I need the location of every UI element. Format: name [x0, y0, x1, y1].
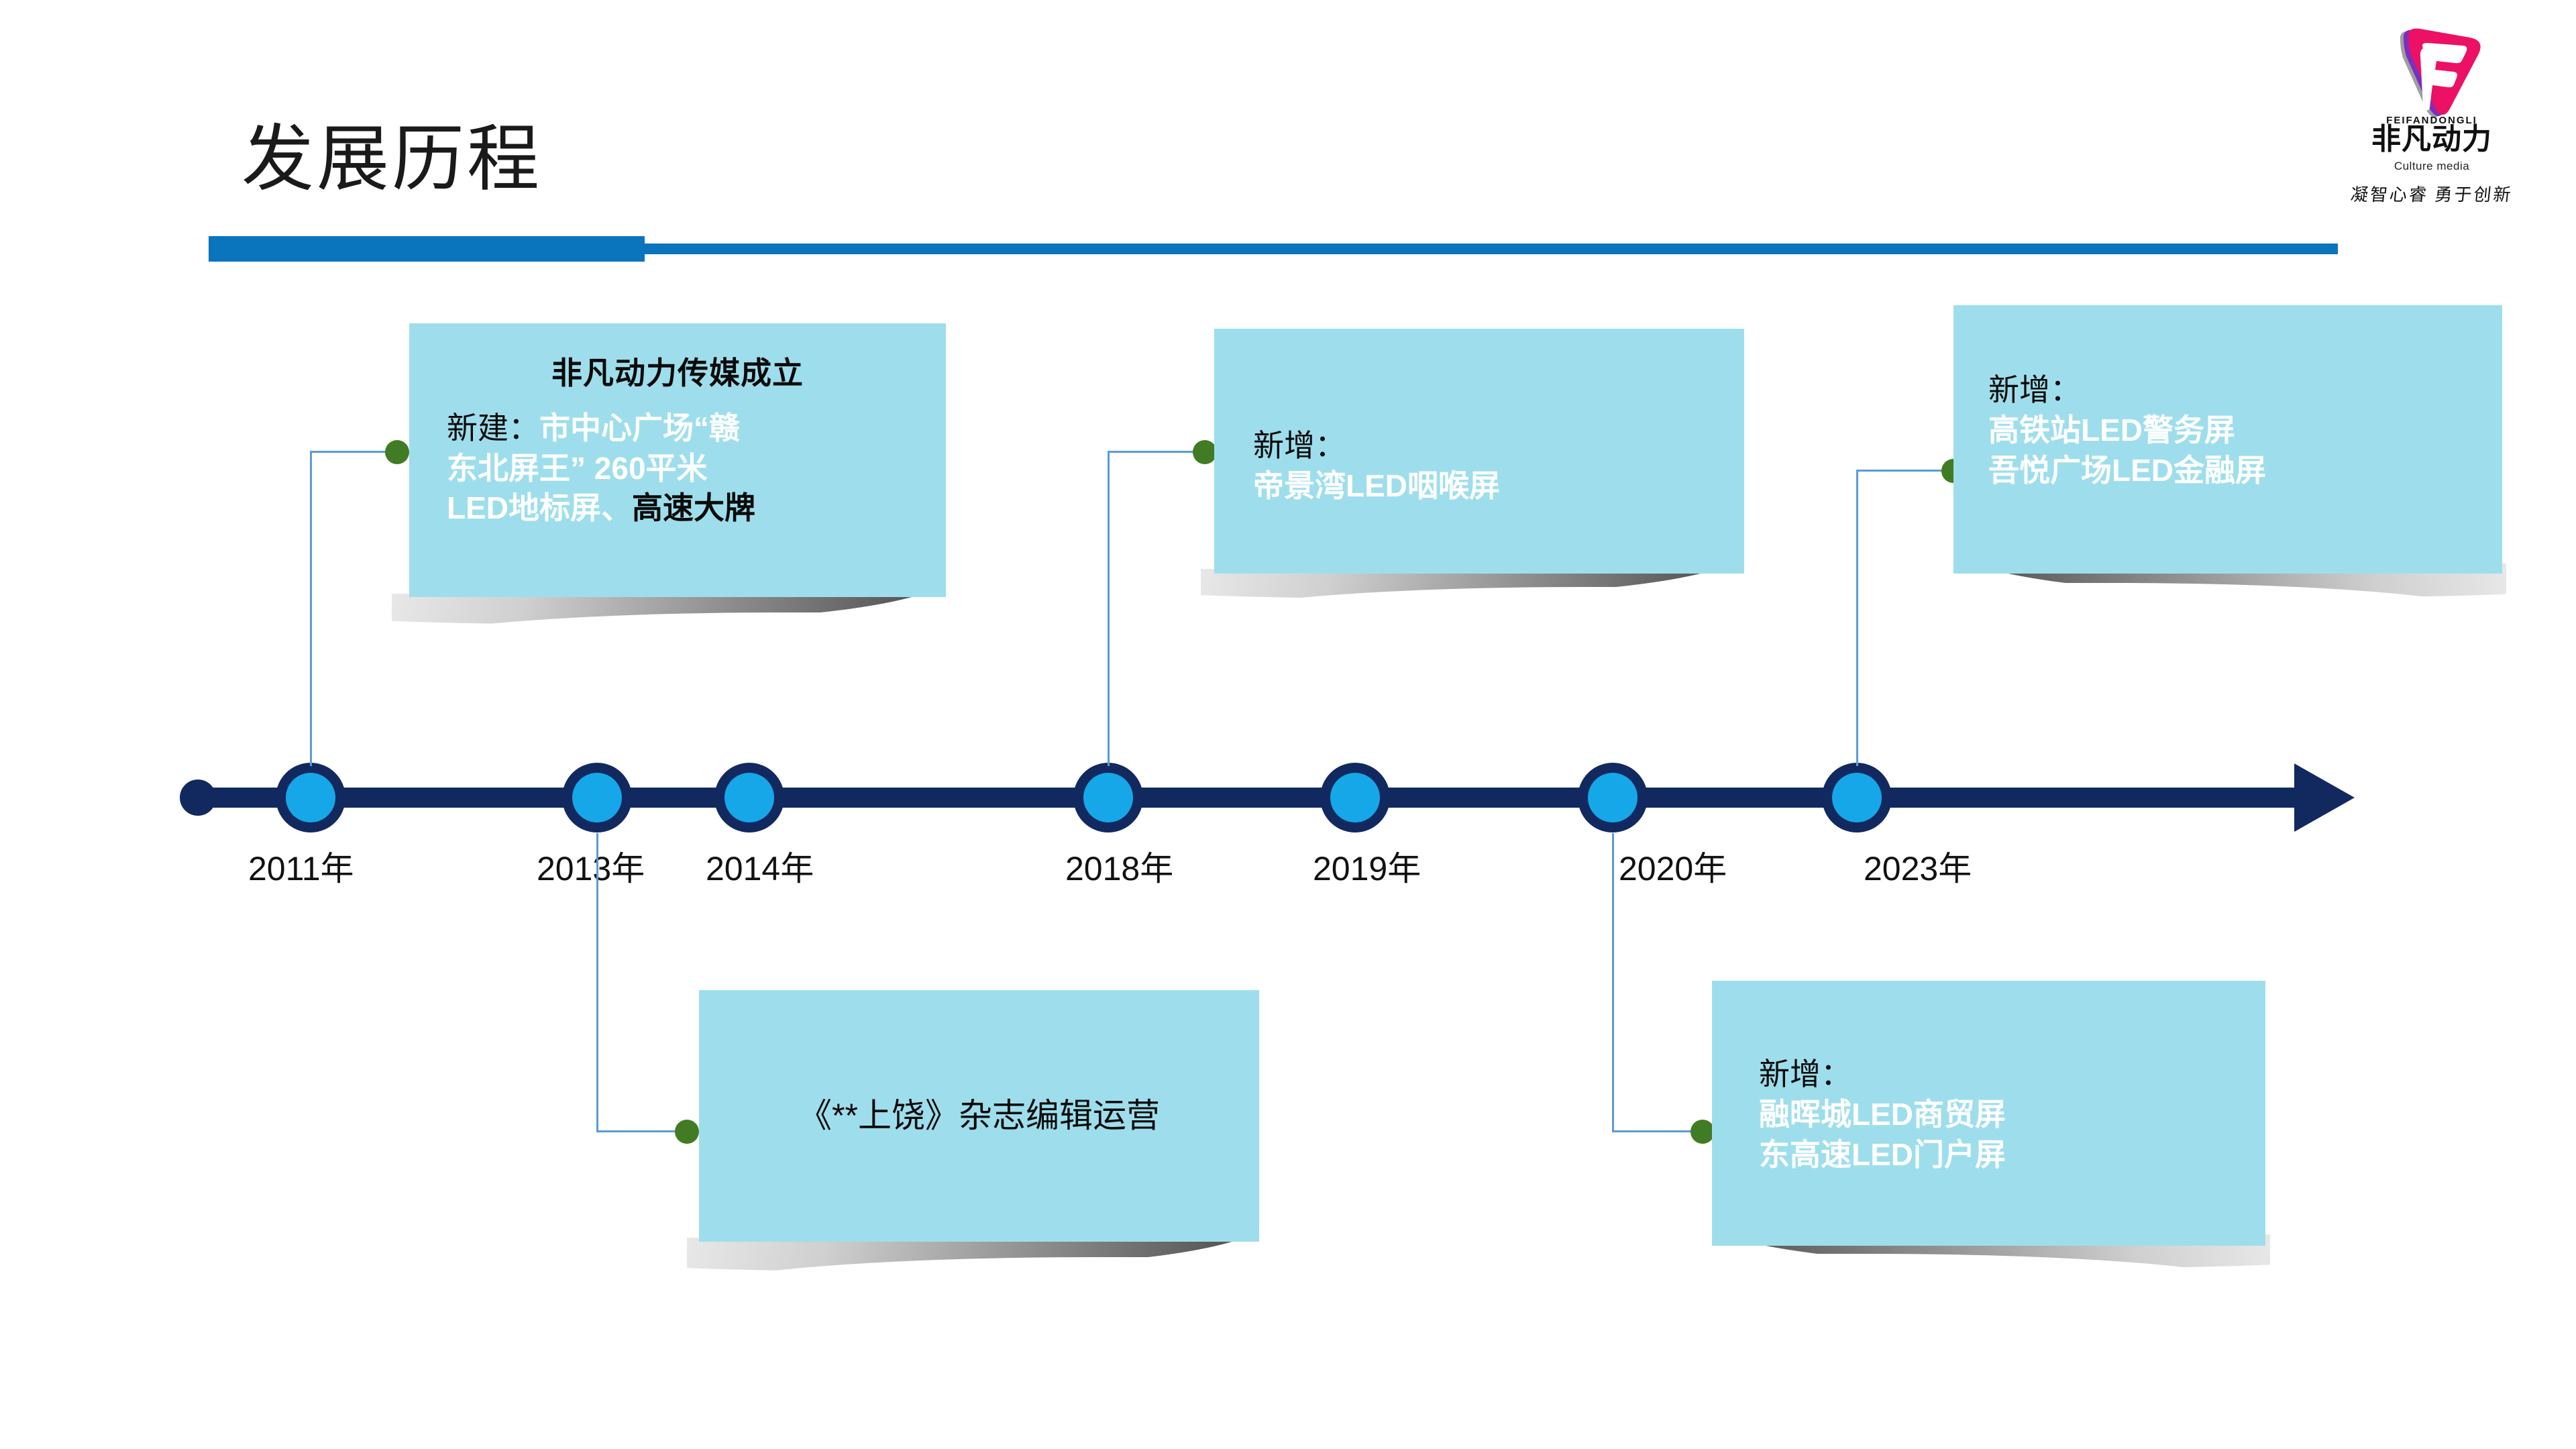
f-triangle-icon [2383, 25, 2483, 119]
timeline-node-2014[interactable] [714, 763, 784, 833]
card-body-2023: 新增： 高铁站LED警务屏 吾悦广场LED金融屏 [1953, 305, 2502, 490]
card-text: 融晖城LED商贸屏 [1759, 1097, 2006, 1132]
connector-dot-2018 [1193, 440, 1217, 464]
timeline-year-2011: 2011年 [248, 842, 354, 890]
card-text: 新建： [447, 411, 539, 445]
connector-dot-2011 [385, 440, 409, 464]
timeline-year-2020: 2020年 [1619, 842, 1727, 890]
logo-subtitle: Culture media [2341, 160, 2522, 173]
timeline-year-2023: 2023年 [1864, 842, 1972, 890]
timeline-year-2019: 2019年 [1313, 842, 1421, 890]
timeline-year-2018: 2018年 [1065, 842, 1173, 890]
card-shadow-2023 [1949, 563, 2506, 634]
logo-name-cn: 非凡动力 [2341, 125, 2522, 154]
card-body-2020: 新增： 融晖城LED商贸屏 东高速LED门户屏 [1712, 981, 2265, 1175]
timeline-node-2018[interactable] [1073, 763, 1143, 833]
card-text: 高铁站LED警务屏 [1988, 413, 2235, 447]
connector-dot-2013 [675, 1120, 699, 1144]
card-shadow-2011 [392, 594, 949, 661]
timeline-card-2020[interactable]: 新增： 融晖城LED商贸屏 东高速LED门户屏 [1712, 981, 2265, 1246]
card-text: 吾悦广场LED金融屏 [1988, 453, 2266, 488]
card-body-2013: 《**上饶》杂志编辑运营 [699, 990, 1259, 1242]
title-accent-rule [641, 244, 2338, 254]
timeline-node-2019[interactable] [1320, 763, 1390, 833]
timeline-card-2023[interactable]: 新增： 高铁站LED警务屏 吾悦广场LED金融屏 [1953, 305, 2502, 574]
timeline-node-2020[interactable] [1578, 763, 1648, 833]
card-text: 帝景湾LED咽喉屏 [1253, 468, 1500, 503]
timeline-node-2011[interactable] [276, 763, 345, 833]
logo-tagline: 凝智心睿 勇于创新 [2340, 181, 2524, 206]
card-body-2018: 新增： 帝景湾LED咽喉屏 [1214, 329, 1744, 506]
timeline-card-2013[interactable]: 《**上饶》杂志编辑运营 [699, 990, 1259, 1242]
timeline-card-2018[interactable]: 新增： 帝景湾LED咽喉屏 [1214, 329, 1744, 574]
timeline-node-2013[interactable] [562, 763, 632, 833]
card-text: LED地标屏、 [447, 490, 632, 525]
card-text: 东高速LED门户屏 [1759, 1137, 2006, 1172]
timeline-arrow-icon [2294, 763, 2355, 832]
card-text: 新增： [1253, 428, 1346, 463]
card-text: 《**上饶》杂志编辑运营 [798, 1094, 1160, 1138]
connector-dot-2020 [1690, 1120, 1715, 1144]
timeline-year-2013: 2013年 [537, 842, 645, 890]
timeline-node-2023[interactable] [1822, 763, 1892, 833]
card-text: 新增： [1988, 372, 2081, 407]
timeline-axis [188, 788, 2310, 808]
card-text: 高速大牌 [632, 490, 755, 525]
company-logo: FEIFANDONGLI 非凡动力 Culture media 凝智心睿 勇于创… [2341, 25, 2522, 220]
page-title: 发展历程 [241, 101, 542, 205]
title-accent-block [209, 236, 645, 262]
card-shadow-2013 [687, 1238, 1267, 1308]
card-text: 新增： [1759, 1057, 1851, 1091]
timeline-year-2014: 2014年 [706, 842, 814, 890]
card-text: 东北屏王” 260平米 [447, 451, 708, 486]
card-text: 市中心广场“赣 [539, 411, 740, 445]
card-title-2011: 非凡动力传媒成立 [409, 323, 946, 396]
timeline-card-2011[interactable]: 非凡动力传媒成立 新建：市中心广场“赣 东北屏王” 260平米 LED地标屏、高… [409, 323, 946, 597]
card-body-2011: 新建：市中心广场“赣 东北屏王” 260平米 LED地标屏、高速大牌 [409, 396, 946, 529]
card-shadow-2018 [1201, 569, 1744, 635]
